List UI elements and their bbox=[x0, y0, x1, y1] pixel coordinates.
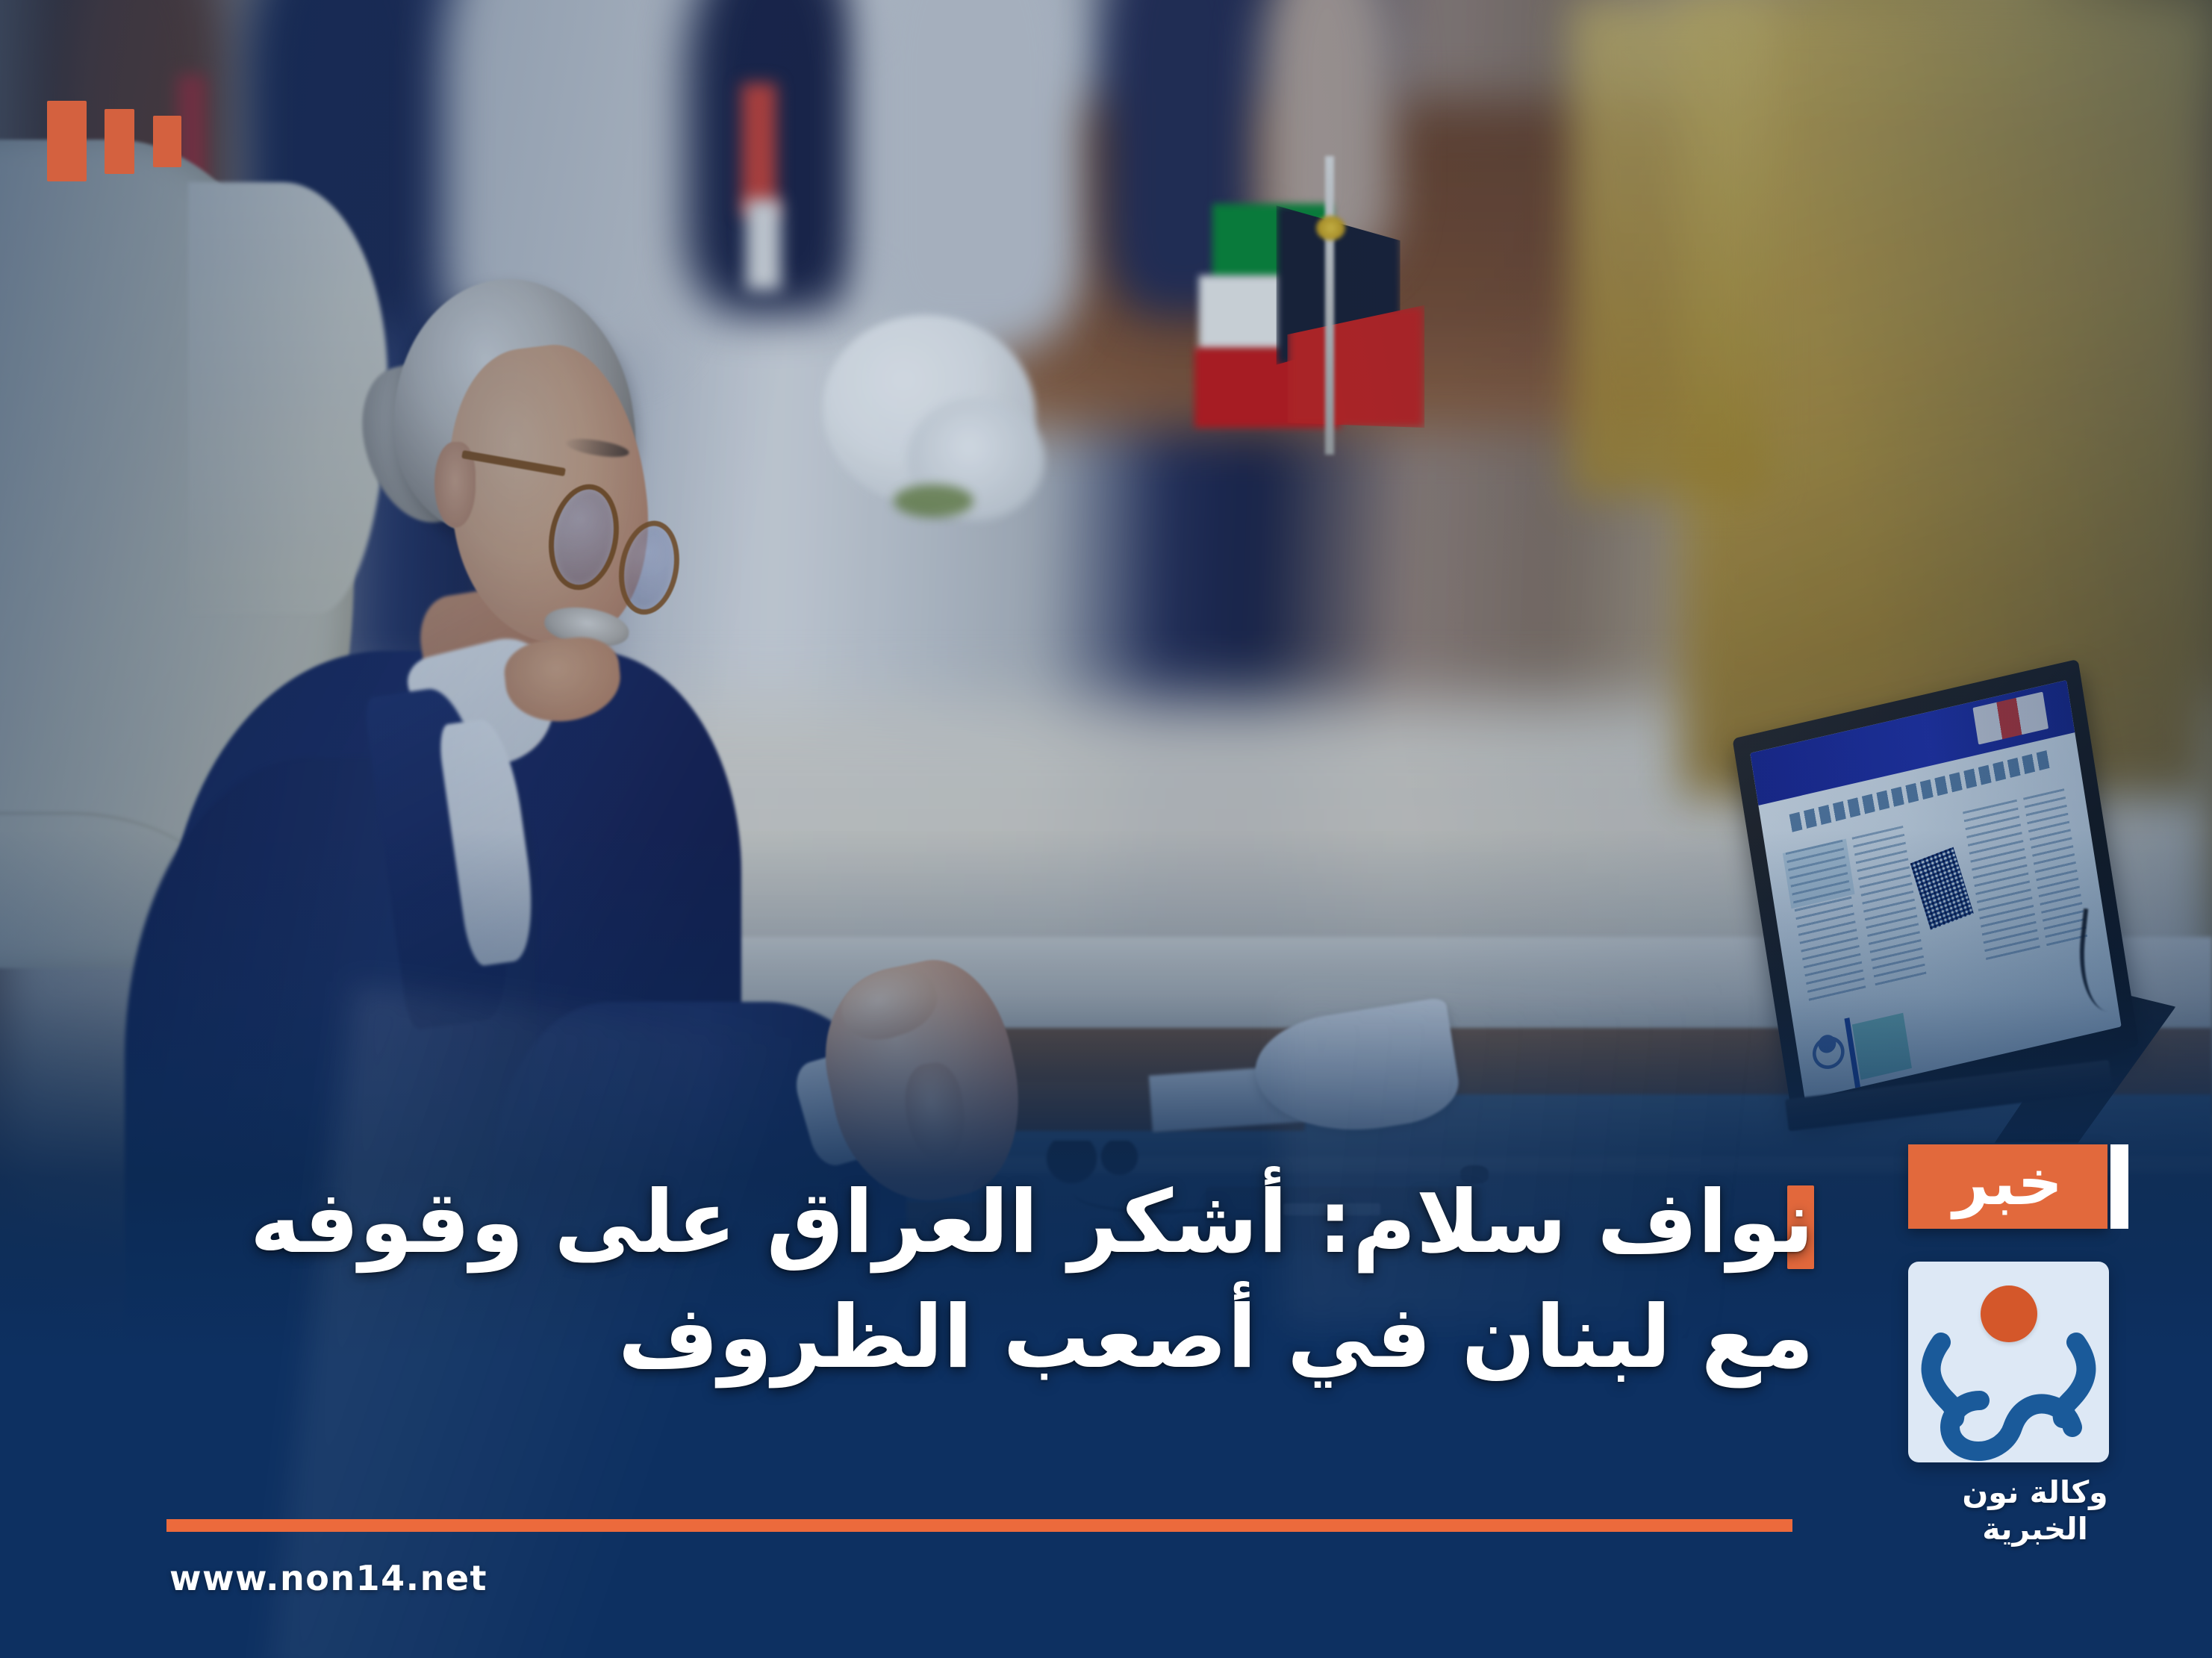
website-url[interactable]: www.non14.net bbox=[169, 1558, 487, 1598]
bar-medium bbox=[105, 109, 134, 174]
page-title: نواف سلام: أشكر العراق على وقوفه مع لبنا… bbox=[105, 1165, 1814, 1396]
headline-line-2: مع لبنان في أصعب الظروف bbox=[105, 1280, 1814, 1395]
footer-divider bbox=[166, 1519, 1792, 1532]
news-photo bbox=[0, 0, 2212, 1658]
news-card: نواف سلام: أشكر العراق على وقوفه مع لبنا… bbox=[0, 0, 2212, 1658]
badge-white-rule bbox=[2110, 1144, 2128, 1229]
bar-large bbox=[47, 101, 87, 181]
status-badge: خبر bbox=[1908, 1144, 2107, 1229]
agency-logo bbox=[1908, 1262, 2109, 1462]
headline-line-1: نواف سلام: أشكر العراق على وقوفه bbox=[105, 1165, 1814, 1280]
noon-letter-logo-icon bbox=[1908, 1262, 2109, 1462]
bar-small bbox=[153, 116, 181, 167]
agency-name: وكالة نون الخبرية bbox=[1908, 1474, 2162, 1548]
status-badge-label: خبر bbox=[1953, 1151, 2063, 1214]
